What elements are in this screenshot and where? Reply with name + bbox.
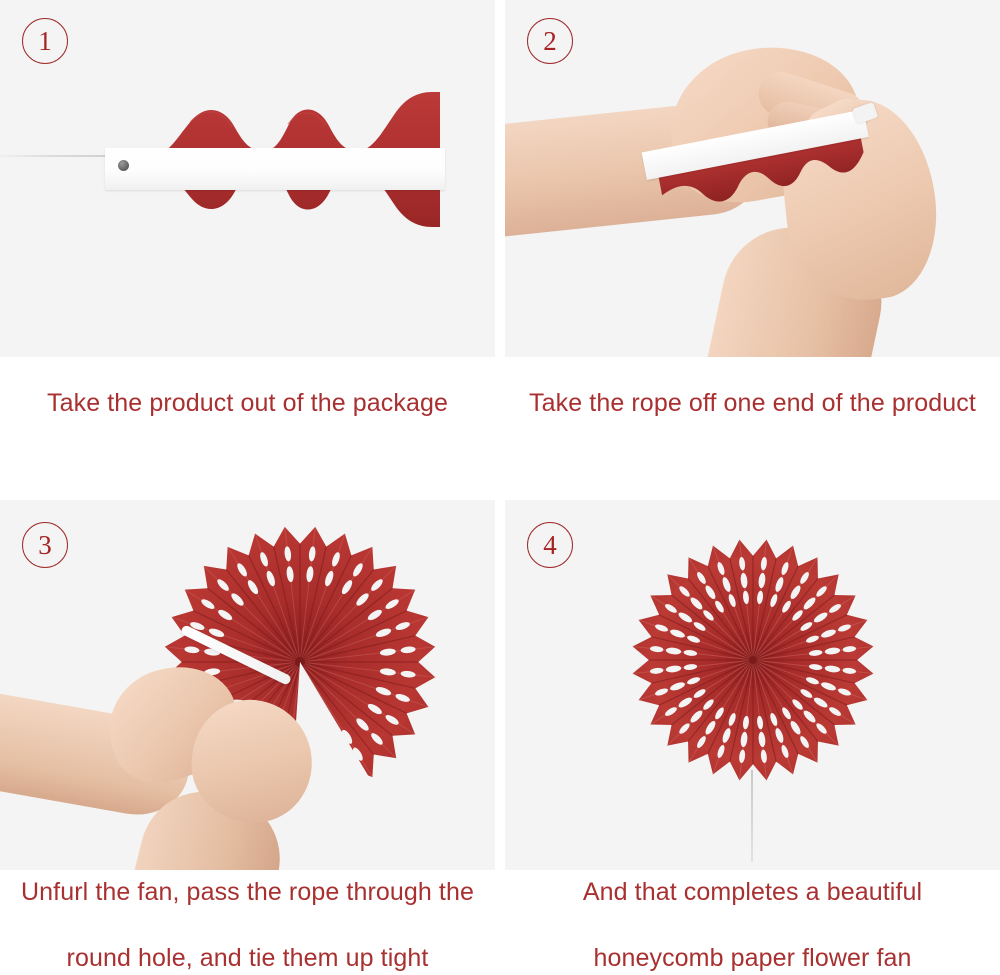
step-2-photo-panel: 2 (505, 0, 1000, 357)
round-hole-eyelet (118, 160, 129, 171)
step-4-badge: 4 (527, 522, 573, 568)
step-1-badge: 1 (22, 18, 68, 64)
step-3-caption-line-2: round hole, and tie them up tight (21, 942, 474, 975)
finished-fan (628, 535, 878, 785)
step-2-badge: 2 (527, 18, 573, 64)
folded-fan-illustration (0, 0, 495, 357)
step-2-caption-text: Take the rope off one end of the product (529, 387, 976, 420)
step-3-caption-text: Unfurl the fan, pass the rope through th… (21, 876, 474, 975)
step-4-caption-line-2: honeycomb paper flower fan (583, 942, 922, 975)
step-3-photo-panel: 3 (0, 500, 495, 870)
step-1-caption: Take the product out of the package (0, 357, 495, 500)
step-3-caption: Unfurl the fan, pass the rope through th… (0, 870, 495, 956)
step-3-badge: 3 (22, 522, 68, 568)
step-1-photo-panel: 1 (0, 0, 495, 357)
step-1-caption-text: Take the product out of the package (47, 387, 448, 420)
step-3-caption-line-1: Unfurl the fan, pass the rope through th… (21, 876, 474, 909)
step-4-caption: And that completes a beautiful honeycomb… (505, 870, 1000, 956)
rope-string (0, 155, 112, 157)
step-4-caption-line-1: And that completes a beautiful (583, 876, 922, 909)
step-2-caption: Take the rope off one end of the product (505, 357, 1000, 500)
white-card-strip (105, 148, 445, 190)
step-4-caption-text: And that completes a beautiful honeycomb… (583, 876, 922, 975)
step-4-photo-panel: 4 (505, 500, 1000, 870)
instruction-sheet: 1 2 (0, 0, 1000, 956)
